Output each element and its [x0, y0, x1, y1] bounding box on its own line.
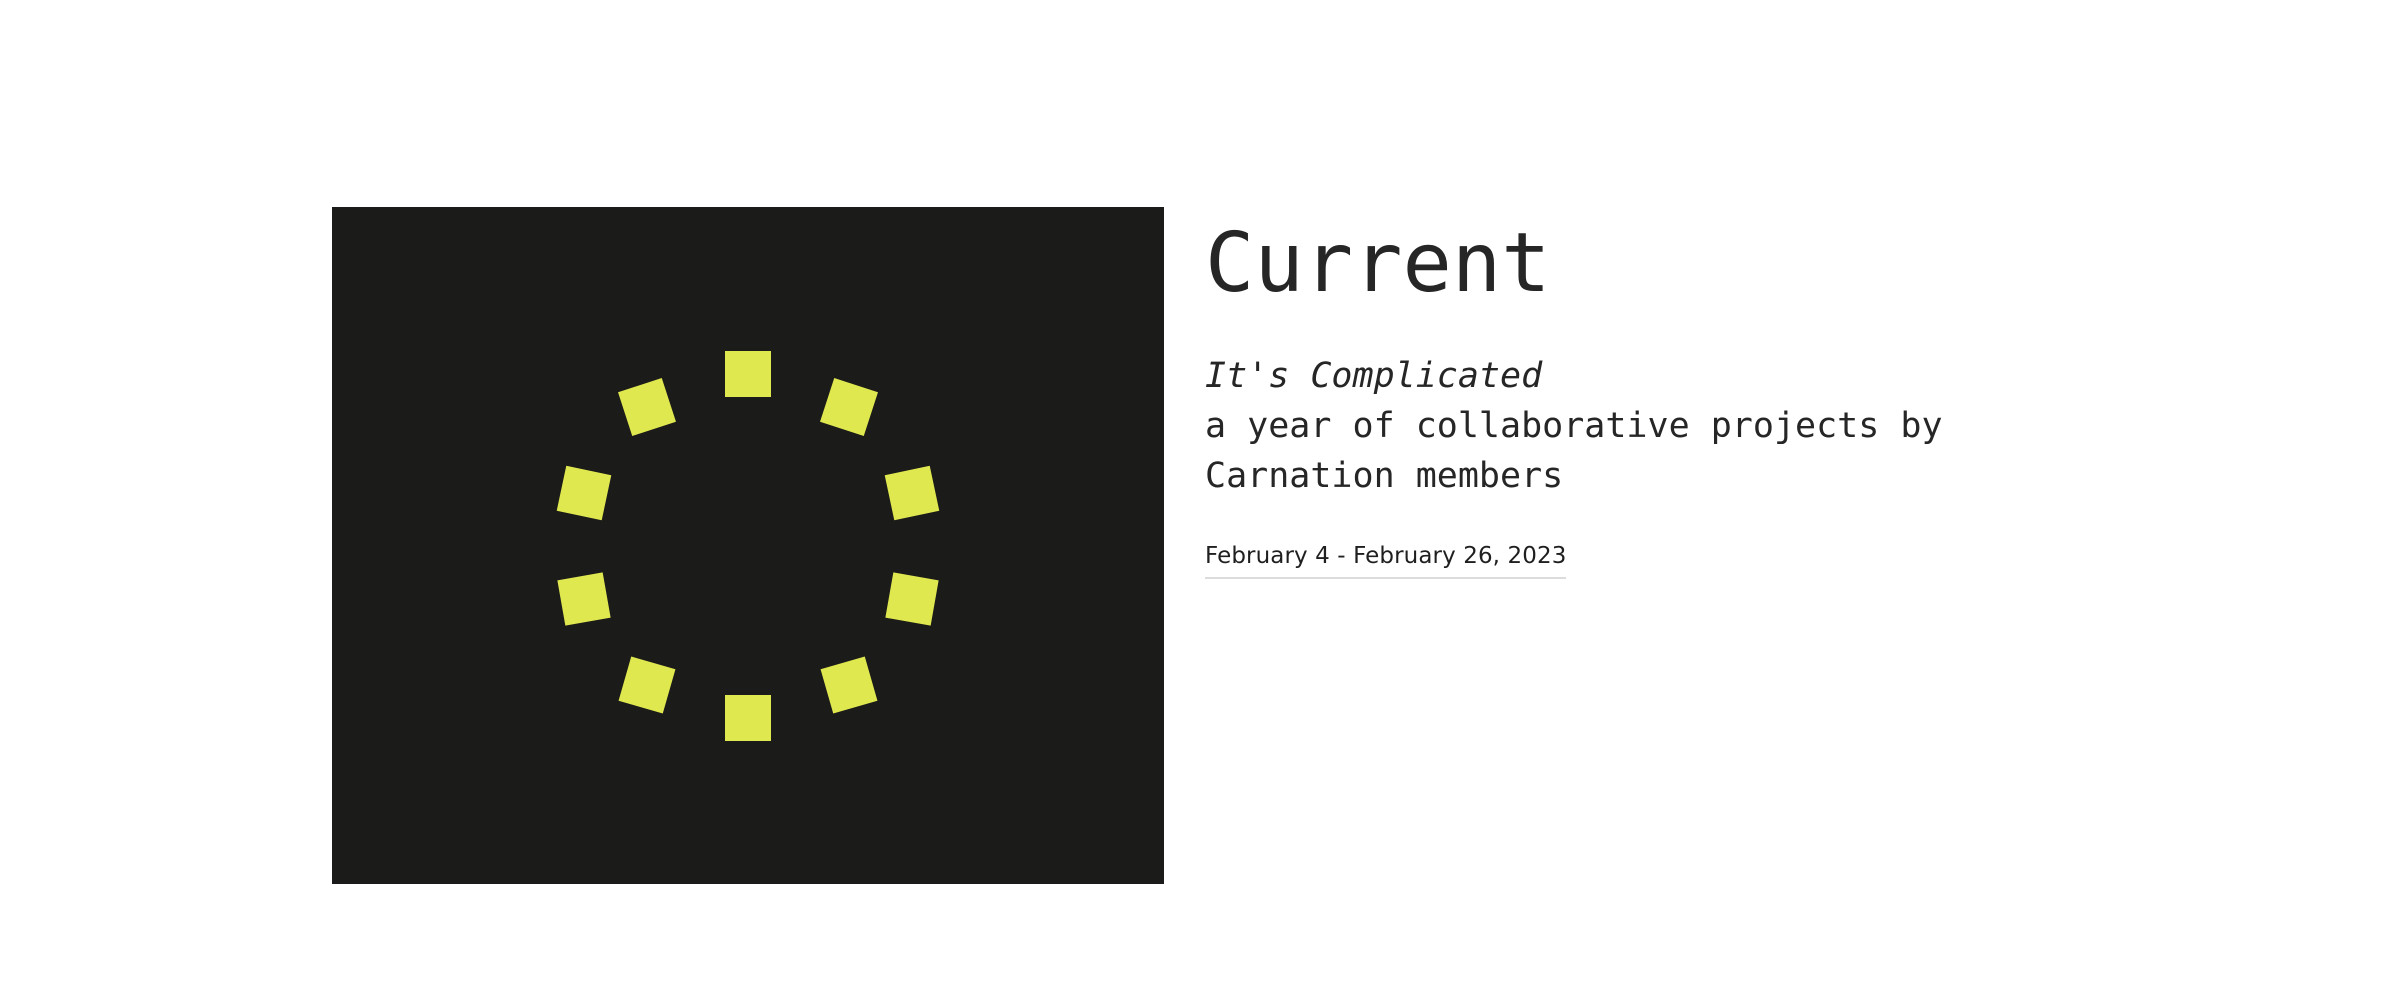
exhibition-page: Current It's Complicated a year of colla…: [0, 0, 2400, 1006]
exhibition-date-range: February 4 - February 26, 2023: [1205, 541, 1566, 579]
exhibition-text-column: Current It's Complicated a year of colla…: [1205, 207, 2205, 579]
ring-square: [884, 466, 939, 521]
ring-square: [725, 351, 771, 397]
page-title: Current: [1205, 207, 2205, 307]
circle-of-squares-graphic: [332, 207, 1164, 884]
exhibition-blurb: It's Complicated a year of collaborative…: [1205, 307, 2205, 501]
ring-square: [618, 657, 675, 714]
exhibition-work-title: It's Complicated: [1205, 351, 2205, 401]
ring-square: [885, 572, 938, 625]
ring-square: [558, 572, 611, 625]
ring-square: [725, 695, 771, 741]
exhibition-description-line-1: a year of collaborative projects by: [1205, 401, 2205, 451]
ring-square: [557, 466, 612, 521]
exhibition-date-wrap: February 4 - February 26, 2023: [1205, 501, 2205, 579]
ring-square: [618, 378, 676, 436]
ring-square: [820, 378, 878, 436]
ring-square: [821, 657, 878, 714]
artwork-panel: [332, 207, 1164, 884]
exhibition-description-line-2: Carnation members: [1205, 451, 2205, 501]
